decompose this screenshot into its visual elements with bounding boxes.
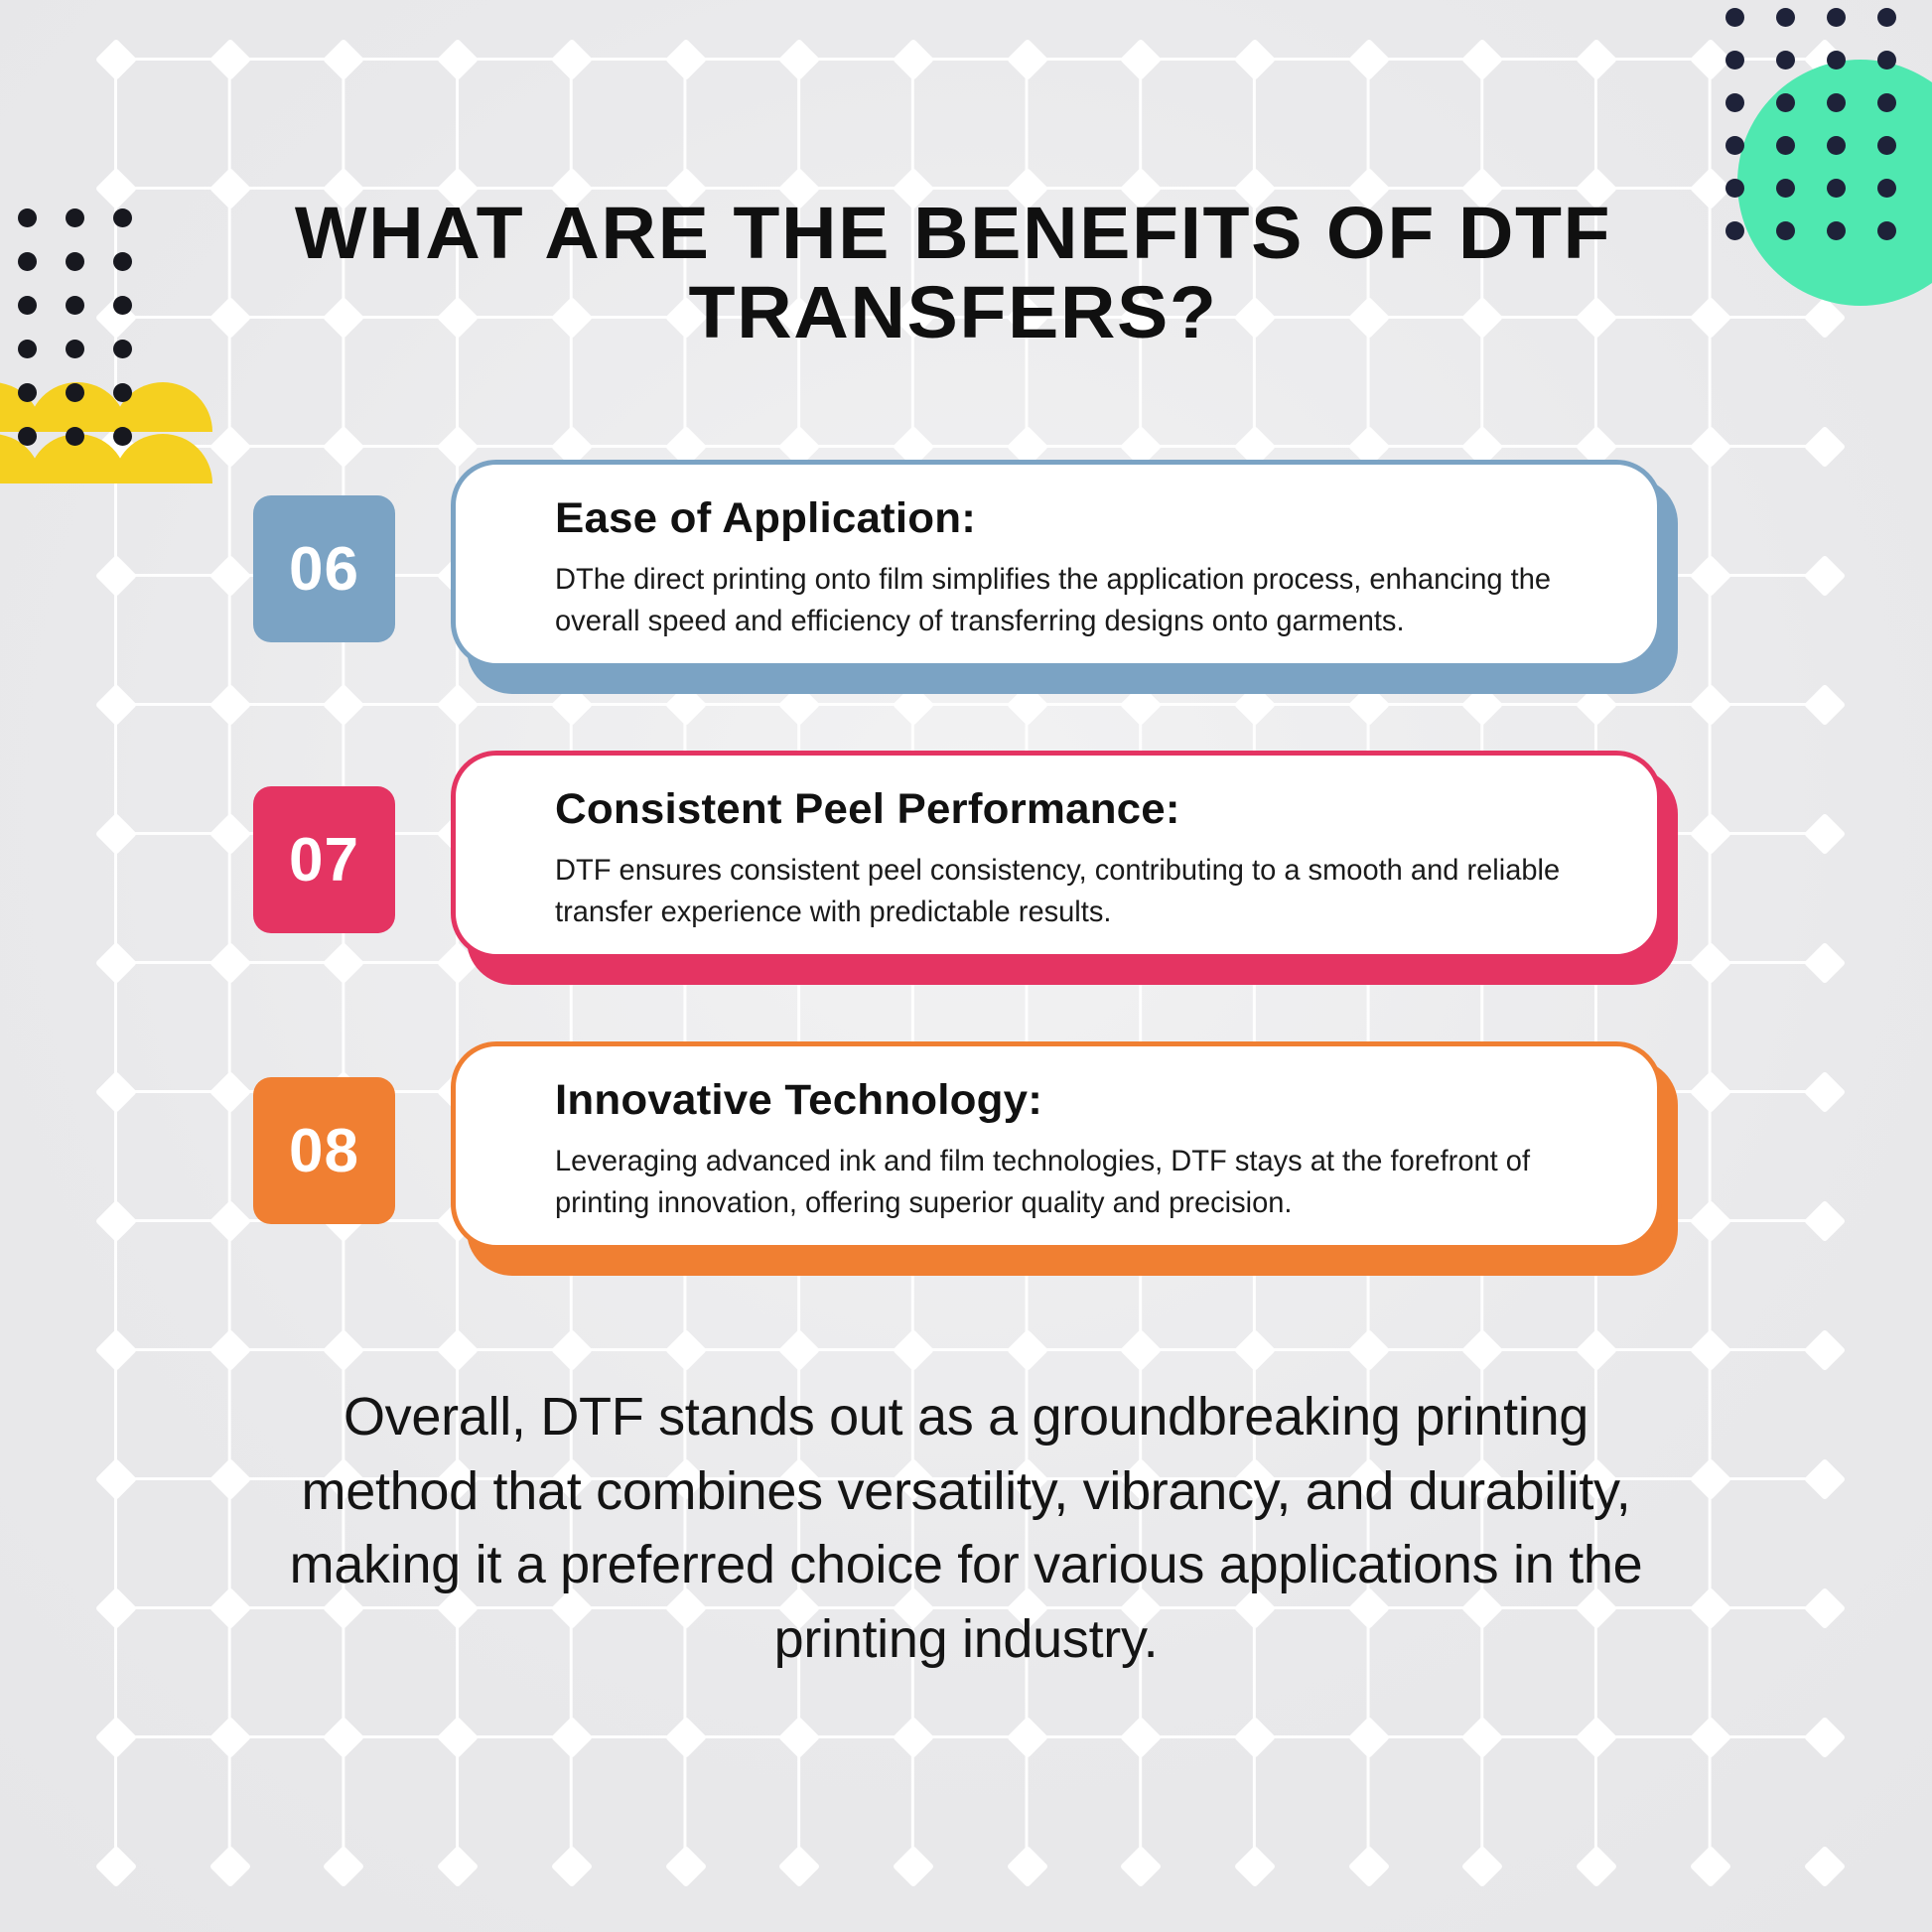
decor-dot — [1827, 136, 1846, 155]
decor-dot — [66, 340, 84, 358]
decor-dot — [1725, 93, 1744, 112]
grid-diamond — [1690, 1329, 1731, 1371]
benefit-body: Leveraging advanced ink and film technol… — [555, 1141, 1595, 1224]
grid-diamond — [208, 1329, 250, 1371]
grid-diamond — [1576, 1329, 1617, 1371]
grid-diamond — [1234, 1329, 1276, 1371]
benefit-item: Ease of Application:DThe direct printing… — [0, 452, 1932, 715]
decor-dot — [18, 208, 37, 227]
grid-diamond — [1803, 1587, 1845, 1629]
benefit-number-badge: 08 — [253, 1077, 395, 1224]
grid-diamond — [778, 39, 820, 80]
grid-diamond — [1006, 1846, 1047, 1887]
grid-diamond — [1234, 1846, 1276, 1887]
grid-diamond — [1803, 1458, 1845, 1500]
grid-diamond — [551, 39, 593, 80]
grid-diamond — [664, 1846, 706, 1887]
decor-dot — [1877, 221, 1896, 240]
grid-diamond — [1006, 1717, 1047, 1758]
grid-diamond — [1690, 1587, 1731, 1629]
grid-diamond — [1347, 1846, 1389, 1887]
grid-diamond — [1120, 1846, 1162, 1887]
grid-diamond — [208, 39, 250, 80]
grid-diamond — [437, 1846, 479, 1887]
decor-dot — [113, 427, 132, 446]
grid-diamond — [1803, 1717, 1845, 1758]
benefit-item: Innovative Technology:Leveraging advance… — [0, 1034, 1932, 1297]
benefit-body: DTF ensures consistent peel consistency,… — [555, 850, 1595, 933]
decor-dot — [1725, 136, 1744, 155]
grid-diamond — [1576, 1717, 1617, 1758]
grid-diamond — [323, 1846, 364, 1887]
grid-diamond — [1347, 1717, 1389, 1758]
grid-diamond — [1347, 39, 1389, 80]
decor-dot — [113, 383, 132, 402]
grid-diamond — [437, 1717, 479, 1758]
grid-diamond — [893, 1329, 934, 1371]
decor-dot — [66, 296, 84, 315]
grid-diamond — [1347, 1329, 1389, 1371]
decor-dot — [1776, 51, 1795, 69]
grid-diamond — [323, 1329, 364, 1371]
decor-dot — [1827, 8, 1846, 27]
decor-dot — [1725, 221, 1744, 240]
grid-diamond — [778, 1717, 820, 1758]
decor-dot — [1877, 179, 1896, 198]
benefit-number: 08 — [289, 1116, 359, 1186]
benefit-body: DThe direct printing onto film simplifie… — [555, 559, 1595, 642]
decor-dot — [1776, 93, 1795, 112]
decor-dot — [18, 340, 37, 358]
grid-diamond — [1803, 1329, 1845, 1371]
decor-dot — [18, 252, 37, 271]
benefit-card: Consistent Peel Performance:DTF ensures … — [451, 751, 1662, 959]
decor-dot — [18, 296, 37, 315]
grid-diamond — [95, 1587, 137, 1629]
grid-diamond — [1690, 297, 1731, 339]
benefits-list: Ease of Application:DThe direct printing… — [0, 452, 1932, 1324]
decor-dot — [18, 383, 37, 402]
grid-diamond — [95, 39, 137, 80]
page-title: WHAT ARE THE BENEFITS OF DTF TRANSFERS? — [220, 194, 1687, 352]
grid-diamond — [778, 1329, 820, 1371]
grid-diamond — [1006, 39, 1047, 80]
benefit-number: 06 — [289, 534, 359, 605]
grid-diamond — [437, 39, 479, 80]
decor-dot — [1776, 221, 1795, 240]
decor-dot — [113, 340, 132, 358]
grid-diamond — [95, 1329, 137, 1371]
grid-diamond — [1234, 1717, 1276, 1758]
grid-diamond — [1690, 1717, 1731, 1758]
grid-diamond — [1461, 39, 1503, 80]
benefit-card: Ease of Application:DThe direct printing… — [451, 460, 1662, 668]
decor-dot — [1725, 179, 1744, 198]
grid-diamond — [1461, 1846, 1503, 1887]
benefit-heading: Innovative Technology: — [555, 1076, 1632, 1125]
grid-diamond — [1690, 1458, 1731, 1500]
benefit-heading: Ease of Application: — [555, 494, 1632, 543]
grid-diamond — [551, 1846, 593, 1887]
grid-diamond — [893, 1717, 934, 1758]
grid-diamond — [1461, 1717, 1503, 1758]
grid-diamond — [664, 1717, 706, 1758]
grid-diamond — [208, 1846, 250, 1887]
decor-dot — [66, 383, 84, 402]
decor-dot — [1776, 136, 1795, 155]
grid-diamond — [1461, 1329, 1503, 1371]
decor-dot — [1827, 51, 1846, 69]
decor-dot — [18, 427, 37, 446]
grid-diamond — [1006, 1329, 1047, 1371]
decor-dot — [1827, 93, 1846, 112]
grid-diamond — [208, 1717, 250, 1758]
grid-diamond — [95, 168, 137, 209]
grid-diamond — [1690, 1846, 1731, 1887]
decor-dot — [113, 252, 132, 271]
decor-dot — [1877, 136, 1896, 155]
summary-paragraph: Overall, DTF stands out as a groundbreak… — [251, 1380, 1681, 1676]
benefit-heading: Consistent Peel Performance: — [555, 785, 1632, 834]
grid-diamond — [1120, 1717, 1162, 1758]
decor-dot — [66, 427, 84, 446]
grid-diamond — [1120, 39, 1162, 80]
grid-diamond — [208, 1458, 250, 1500]
decor-dot — [66, 208, 84, 227]
benefit-number-badge: 06 — [253, 495, 395, 642]
decor-dot — [1877, 8, 1896, 27]
infographic-canvas: WHAT ARE THE BENEFITS OF DTF TRANSFERS? … — [0, 0, 1932, 1932]
grid-diamond — [551, 1329, 593, 1371]
benefit-item: Consistent Peel Performance:DTF ensures … — [0, 743, 1932, 1006]
decor-dot — [66, 252, 84, 271]
benefit-number: 07 — [289, 825, 359, 896]
benefit-number-badge: 07 — [253, 786, 395, 933]
decor-dot — [1877, 93, 1896, 112]
grid-diamond — [1234, 39, 1276, 80]
grid-diamond — [323, 39, 364, 80]
decor-dot — [1827, 179, 1846, 198]
grid-diamond — [893, 1846, 934, 1887]
decor-dot — [1877, 51, 1896, 69]
grid-diamond — [1576, 39, 1617, 80]
grid-diamond — [95, 1458, 137, 1500]
grid-diamond — [1120, 1329, 1162, 1371]
grid-diamond — [664, 1329, 706, 1371]
decor-dot — [1725, 51, 1744, 69]
grid-diamond — [1576, 1846, 1617, 1887]
decor-dot — [113, 208, 132, 227]
grid-diamond — [778, 1846, 820, 1887]
grid-diamond — [551, 1717, 593, 1758]
decor-dot — [1776, 179, 1795, 198]
grid-diamond — [664, 39, 706, 80]
decor-dot — [1776, 8, 1795, 27]
grid-diamond — [893, 39, 934, 80]
grid-diamond — [208, 1587, 250, 1629]
grid-diamond — [323, 1717, 364, 1758]
grid-diamond — [95, 1846, 137, 1887]
decor-dot — [113, 296, 132, 315]
benefit-card: Innovative Technology:Leveraging advance… — [451, 1041, 1662, 1250]
decor-dot — [1827, 221, 1846, 240]
grid-diamond — [1803, 1846, 1845, 1887]
top-right-dot-grid — [1704, 0, 1932, 248]
grid-diamond — [95, 1717, 137, 1758]
grid-diamond — [437, 1329, 479, 1371]
decor-dot — [1725, 8, 1744, 27]
